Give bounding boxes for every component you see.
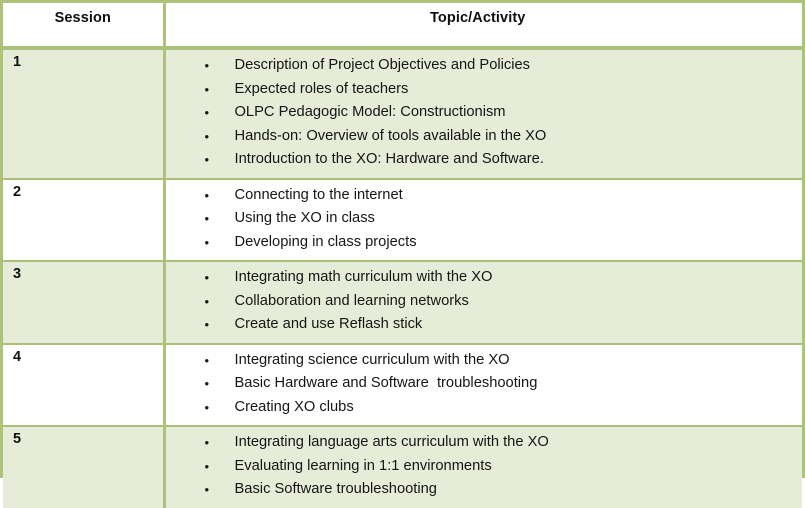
topic-cell: •Connecting to the internet•Using the XO…	[164, 179, 802, 262]
session-cell: 1	[3, 48, 164, 179]
topic-list: •Connecting to the internet•Using the XO…	[166, 180, 803, 261]
topic-text: OLPC Pedagogic Model: Constructionism	[235, 104, 506, 120]
topic-text: Create and use Reflash stick	[235, 316, 423, 332]
session-cell: 3	[3, 261, 164, 344]
bullet-icon: •	[205, 455, 210, 479]
bullet-icon: •	[205, 349, 210, 373]
bullet-icon: •	[205, 101, 210, 125]
table-body: 1•Description of Project Objectives and …	[3, 48, 802, 508]
topic-cell: •Integrating language arts curriculum wi…	[164, 426, 802, 508]
table-header-row: Session Topic/Activity	[3, 3, 802, 48]
column-header-topic: Topic/Activity	[164, 3, 802, 48]
topic-list-item: •Integrating math curriculum with the XO	[166, 266, 803, 290]
topic-text: Basic Software troubleshooting	[235, 481, 437, 497]
bullet-icon: •	[205, 207, 210, 231]
bullet-icon: •	[205, 478, 210, 502]
session-cell: 4	[3, 344, 164, 427]
topic-text: Developing in class projects	[235, 234, 417, 250]
session-number: 2	[3, 180, 163, 200]
topic-list: •Integrating language arts curriculum wi…	[166, 427, 803, 508]
topic-list-item: •Hands-on: Overview of tools available i…	[166, 125, 803, 149]
topic-list-item: •Description of Project Objectives and P…	[166, 54, 803, 78]
topic-list-item: •Expected roles of teachers	[166, 78, 803, 102]
topic-text: Integrating science curriculum with the …	[235, 352, 510, 368]
topic-cell: •Description of Project Objectives and P…	[164, 48, 802, 179]
table-row: 3•Integrating math curriculum with the X…	[3, 261, 802, 344]
topic-list-item: •Evaluating learning in 1:1 environments	[166, 455, 803, 479]
column-header-session-label: Session	[3, 3, 163, 26]
topic-text: Basic Hardware and Software troubleshoot…	[235, 375, 538, 391]
table-row: 1•Description of Project Objectives and …	[3, 48, 802, 179]
bullet-icon: •	[205, 184, 210, 208]
session-number: 4	[3, 345, 163, 365]
topic-text: Description of Project Objectives and Po…	[235, 57, 531, 73]
topic-list-item: •Create and use Reflash stick	[166, 313, 803, 337]
session-cell: 2	[3, 179, 164, 262]
bullet-icon: •	[205, 372, 210, 396]
table-row: 4•Integrating science curriculum with th…	[3, 344, 802, 427]
topic-list-item: •Introduction to the XO: Hardware and So…	[166, 148, 803, 172]
topic-text: Using the XO in class	[235, 210, 375, 226]
column-header-session: Session	[3, 3, 164, 48]
topic-list-item: •Developing in class projects	[166, 231, 803, 255]
session-number: 1	[3, 50, 163, 70]
table-header: Session Topic/Activity	[3, 3, 802, 48]
table-row: 2•Connecting to the internet•Using the X…	[3, 179, 802, 262]
topic-list-item: •Creating XO clubs	[166, 396, 803, 420]
bullet-icon: •	[205, 290, 210, 314]
topic-list: •Integrating science curriculum with the…	[166, 345, 803, 426]
topic-list: •Integrating math curriculum with the XO…	[166, 262, 803, 343]
table-row: 5•Integrating language arts curriculum w…	[3, 426, 802, 508]
bullet-icon: •	[205, 313, 210, 337]
topic-text: Introduction to the XO: Hardware and Sof…	[235, 151, 544, 167]
bullet-icon: •	[205, 396, 210, 420]
topic-cell: •Integrating math curriculum with the XO…	[164, 261, 802, 344]
bullet-icon: •	[205, 231, 210, 255]
topic-list-item: •Integrating language arts curriculum wi…	[166, 431, 803, 455]
topic-list-item: •OLPC Pedagogic Model: Constructionism	[166, 101, 803, 125]
topic-text: Collaboration and learning networks	[235, 293, 469, 309]
topic-list-item: •Collaboration and learning networks	[166, 290, 803, 314]
topic-cell: •Integrating science curriculum with the…	[164, 344, 802, 427]
topic-list-item: •Using the XO in class	[166, 207, 803, 231]
bullet-icon: •	[205, 125, 210, 149]
session-number: 3	[3, 262, 163, 282]
topic-text: Evaluating learning in 1:1 environments	[235, 458, 492, 474]
topic-text: Integrating math curriculum with the XO	[235, 269, 493, 285]
bullet-icon: •	[205, 148, 210, 172]
bullet-icon: •	[205, 54, 210, 78]
training-session-schedule-table: Session Topic/Activity 1•Description of …	[3, 3, 802, 508]
topic-list-item: •Connecting to the internet	[166, 184, 803, 208]
topic-list-item: •Basic Software troubleshooting	[166, 478, 803, 502]
bullet-icon: •	[205, 266, 210, 290]
topic-list: •Description of Project Objectives and P…	[166, 50, 803, 178]
column-header-topic-label: Topic/Activity	[166, 3, 803, 26]
topic-text: Hands-on: Overview of tools available in…	[235, 128, 547, 144]
topic-list-item: •Basic Hardware and Software troubleshoo…	[166, 372, 803, 396]
bullet-icon: •	[205, 431, 210, 455]
session-cell: 5	[3, 426, 164, 508]
topic-text: Expected roles of teachers	[235, 81, 409, 97]
bullet-icon: •	[205, 78, 210, 102]
schedule-table-container: Session Topic/Activity 1•Description of …	[0, 0, 805, 478]
topic-list-item: •Integrating science curriculum with the…	[166, 349, 803, 373]
topic-text: Integrating language arts curriculum wit…	[235, 434, 549, 450]
topic-text: Creating XO clubs	[235, 399, 354, 415]
topic-text: Connecting to the internet	[235, 187, 403, 203]
session-number: 5	[3, 427, 163, 447]
